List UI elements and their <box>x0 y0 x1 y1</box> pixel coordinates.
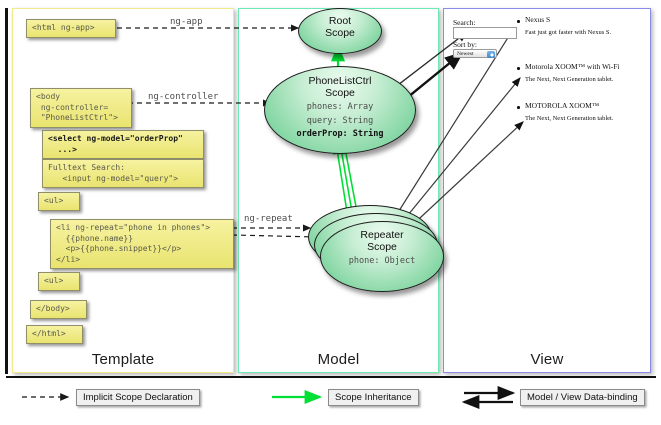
legend-model-view-data-binding: Model / View Data-binding <box>520 389 645 406</box>
panel-model: Model <box>238 8 439 373</box>
scope-repeater-prop-phone: phone: Object <box>321 256 443 267</box>
phone-name: Nexus S <box>525 15 640 24</box>
scope-root-title-line2: Scope <box>299 27 381 39</box>
code-box-ul-close: <ul> <box>38 272 80 291</box>
panel-view-label: View <box>444 351 650 368</box>
code-box-ul-open: <ul> <box>38 192 80 211</box>
scope-repeater-title-line2: Scope <box>321 241 443 253</box>
scope-phonelistctrl-prop-query: query: String <box>265 116 415 127</box>
list-bullet <box>517 67 520 70</box>
phone-snippet: The Next, Next Generation tablet. <box>525 75 640 84</box>
frame-bottom-rule <box>6 376 656 378</box>
scope-phonelistctrl: PhoneListCtrl Scope phones: Array query:… <box>264 66 416 154</box>
view-search-input[interactable] <box>453 27 517 39</box>
code-box-body-open: <body ng-controller= "PhoneListCtrl"> <box>30 88 132 128</box>
diagram-canvas: Template Model View <box>0 0 661 425</box>
phone-snippet: Fast just got faster with Nexus S. <box>525 28 640 37</box>
code-box-body-close: </body> <box>30 300 87 319</box>
scope-repeater-title-line1: Repeater <box>321 229 443 241</box>
code-box-html-close: </html> <box>26 325 83 344</box>
scope-phonelistctrl-prop-orderprop: orderProp: String <box>265 129 415 140</box>
code-box-select: <select ng-model="orderProp" ...> <box>42 130 204 159</box>
code-box-html-open: <html ng-app> <box>26 19 116 38</box>
code-box-li-repeat: <li ng-repeat="phone in phones"> {{phone… <box>50 219 234 269</box>
wire-label-ng-repeat: ng-repeat <box>244 214 293 224</box>
view-search-label: Search: <box>453 18 476 27</box>
view-sort-label: Sort by: <box>453 40 477 49</box>
phone-name: MOTOROLA XOOM™ <box>525 101 640 110</box>
scope-root-title-line1: Root <box>299 15 381 27</box>
frame-left-rule <box>5 8 8 374</box>
list-item[interactable]: Nexus S Fast just got faster with Nexus … <box>525 15 640 37</box>
scope-root: Root Scope <box>298 8 382 54</box>
scope-repeater: Repeater Scope phone: Object <box>320 221 444 292</box>
list-item[interactable]: Motorola XOOM™ with Wi-Fi The Next, Next… <box>525 62 640 84</box>
scope-phonelistctrl-title-line2: Scope <box>265 87 415 99</box>
chevron-updown-icon <box>487 51 495 58</box>
view-sort-select-value: Newest <box>457 51 474 57</box>
list-bullet <box>517 20 520 23</box>
panel-model-label: Model <box>239 351 438 368</box>
list-item[interactable]: MOTOROLA XOOM™ The Next, Next Generation… <box>525 101 640 123</box>
phone-snippet: The Next, Next Generation tablet. <box>525 114 640 123</box>
panel-template-label: Template <box>13 351 233 368</box>
wire-label-ng-app: ng-app <box>170 17 203 27</box>
list-bullet <box>517 106 520 109</box>
scope-phonelistctrl-title-line1: PhoneListCtrl <box>265 75 415 87</box>
phone-name: Motorola XOOM™ with Wi-Fi <box>525 62 640 71</box>
legend-implicit-scope-declaration: Implicit Scope Declaration <box>76 389 200 406</box>
code-box-fulltext-search: Fulltext Search: <input ng-model="query"… <box>42 159 204 188</box>
legend-scope-inheritance: Scope Inheritance <box>328 389 419 406</box>
view-sort-select[interactable]: Newest <box>453 49 497 58</box>
scope-phonelistctrl-prop-phones: phones: Array <box>265 102 415 113</box>
wire-label-ng-controller: ng-controller <box>148 92 218 102</box>
